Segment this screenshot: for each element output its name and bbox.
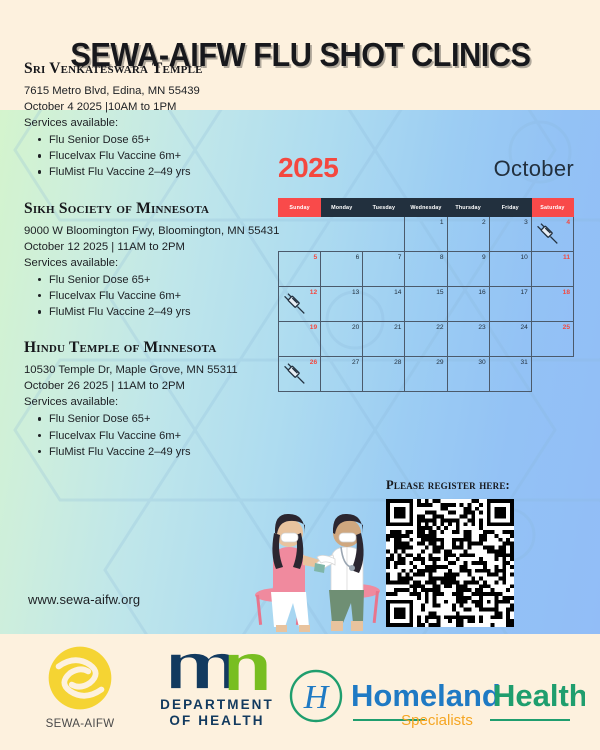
calendar-weekday-thursday: Thursday (447, 199, 489, 217)
calendar-day-number: 9 (482, 254, 486, 261)
calendar-grid: Sunday Monday Tuesday Wednesday Thursday… (278, 198, 574, 392)
vaccination-illustration-icon (243, 503, 389, 635)
calendar-day-cell[interactable]: 5 (279, 252, 321, 287)
flu-shot-clinic-flyer: SEWA-AIFW FLU SHOT CLINICS (0, 0, 600, 750)
list-item: Flu Senior Dose 65+ (38, 411, 282, 427)
list-item: Flucelvax Flu Vaccine 6m+ (38, 288, 282, 304)
calendar-week-row: 567891011 (279, 252, 574, 287)
list-item: Flucelvax Flu Vaccine 6m+ (38, 428, 282, 444)
calendar-day-number: 21 (394, 324, 401, 331)
calendar-day-number: 3 (524, 219, 528, 226)
clinic-services-label: Services available: (24, 115, 282, 131)
mdh-line-2: OF HEALTH (157, 713, 277, 729)
sewa-aifw-logo: SEWA-AIFW (36, 645, 124, 730)
calendar-weekday-sunday: Sunday (279, 199, 321, 217)
list-item: FluMist Flu Vaccine 2–49 yrs (38, 444, 282, 460)
calendar-day-cell[interactable]: 16 (447, 287, 489, 322)
register-section: Please register here: (386, 478, 556, 627)
calendar-day-cell[interactable]: 28 (363, 357, 405, 392)
calendar: 2025 October Sunday Monday Tuesday Wedne… (278, 152, 574, 392)
calendar-day-cell[interactable]: 13 (321, 287, 363, 322)
calendar-day-cell[interactable]: 21 (363, 322, 405, 357)
calendar-day-number: 24 (521, 324, 528, 331)
calendar-day-cell[interactable]: 22 (405, 322, 447, 357)
calendar-week-row: 12131415161718 (279, 287, 574, 322)
calendar-day-number: 13 (352, 289, 359, 296)
mn-department-of-health-logo: DEPARTMENT OF HEALTH (157, 652, 277, 728)
calendar-day-empty (279, 217, 321, 252)
calendar-header: 2025 October (278, 152, 574, 198)
sewa-swirl-icon (47, 645, 113, 711)
calendar-month: October (494, 156, 574, 182)
calendar-day-number: 10 (521, 254, 528, 261)
qr-code-icon[interactable] (386, 499, 514, 627)
homeland-h-monogram-icon: H (303, 679, 331, 716)
list-item: Flucelvax Flu Vaccine 6m+ (38, 148, 282, 164)
calendar-day-cell[interactable]: 4 (531, 217, 573, 252)
calendar-day-number: 5 (313, 254, 317, 261)
calendar-day-number: 12 (310, 289, 317, 296)
calendar-day-number: 31 (521, 359, 528, 366)
calendar-day-empty (363, 217, 405, 252)
list-item: Flu Senior Dose 65+ (38, 132, 282, 148)
calendar-day-cell[interactable]: 8 (405, 252, 447, 287)
calendar-day-cell[interactable]: 24 (489, 322, 531, 357)
calendar-weekday-header-row: Sunday Monday Tuesday Wednesday Thursday… (279, 199, 574, 217)
calendar-weekday-tuesday: Tuesday (363, 199, 405, 217)
clinic-name: Hindu Temple of Minnesota (24, 339, 282, 357)
calendar-day-cell[interactable]: 6 (321, 252, 363, 287)
calendar-day-cell[interactable]: 3 (489, 217, 531, 252)
calendar-body: 1234567891011121314151617181920212223242… (279, 217, 574, 392)
calendar-day-cell[interactable]: 19 (279, 322, 321, 357)
calendar-day-number: 16 (478, 289, 485, 296)
clinic-name: Sri Venkateswara Temple (24, 60, 282, 78)
calendar-weekday-monday: Monday (321, 199, 363, 217)
calendar-day-number: 26 (310, 359, 317, 366)
calendar-day-cell[interactable]: 12 (279, 287, 321, 322)
clinic-datetime: October 4 2025 |10AM to 1PM (24, 99, 282, 115)
calendar-day-cell[interactable]: 17 (489, 287, 531, 322)
calendar-day-number: 14 (394, 289, 401, 296)
register-label: Please register here: (386, 478, 556, 493)
clinic-address: 10530 Temple Dr, Maple Grove, MN 55311 (24, 362, 282, 378)
clinic-address: 7615 Metro Blvd, Edina, MN 55439 (24, 83, 282, 99)
sewa-aifw-logo-label: SEWA-AIFW (36, 718, 124, 730)
calendar-day-number: 20 (352, 324, 359, 331)
clinic-services-list: Flu Senior Dose 65+ Flucelvax Flu Vaccin… (38, 132, 282, 181)
calendar-day-cell[interactable]: 30 (447, 357, 489, 392)
clinic-list: Sri Venkateswara Temple 7615 Metro Blvd,… (24, 60, 282, 479)
calendar-day-cell[interactable]: 29 (405, 357, 447, 392)
calendar-day-number: 30 (478, 359, 485, 366)
calendar-day-cell[interactable]: 18 (531, 287, 573, 322)
clinic-name: Sikh Society of Minnesota (24, 200, 282, 218)
calendar-year: 2025 (278, 152, 338, 184)
calendar-day-cell[interactable]: 15 (405, 287, 447, 322)
calendar-day-cell[interactable]: 23 (447, 322, 489, 357)
calendar-day-number: 7 (398, 254, 402, 261)
calendar-day-empty (321, 217, 363, 252)
calendar-day-cell[interactable]: 31 (489, 357, 531, 392)
calendar-weekday-friday: Friday (489, 199, 531, 217)
mdh-line-1: DEPARTMENT (157, 697, 277, 713)
clinic-entry: Sri Venkateswara Temple 7615 Metro Blvd,… (24, 60, 282, 181)
calendar-day-cell[interactable]: 27 (321, 357, 363, 392)
list-item: FluMist Flu Vaccine 2–49 yrs (38, 164, 282, 180)
calendar-day-cell[interactable]: 26 (279, 357, 321, 392)
calendar-day-cell[interactable]: 14 (363, 287, 405, 322)
specialists-tagline: Specialists (401, 712, 473, 729)
calendar-day-number: 25 (563, 324, 570, 331)
calendar-day-number: 29 (436, 359, 443, 366)
calendar-day-number: 19 (310, 324, 317, 331)
calendar-day-number: 1 (440, 219, 444, 226)
clinic-services-list: Flu Senior Dose 65+ Flucelvax Flu Vaccin… (38, 411, 282, 460)
calendar-day-number: 8 (440, 254, 444, 261)
calendar-day-cell[interactable]: 11 (531, 252, 573, 287)
calendar-day-number: 22 (436, 324, 443, 331)
list-item: FluMist Flu Vaccine 2–49 yrs (38, 304, 282, 320)
calendar-weekday-saturday: Saturday (531, 199, 573, 217)
homeland-health-logo: H Homeland Health Specialists (285, 668, 585, 730)
clinic-entry: Hindu Temple of Minnesota 10530 Temple D… (24, 339, 282, 460)
clinic-services-list: Flu Senior Dose 65+ Flucelvax Flu Vaccin… (38, 272, 282, 321)
calendar-day-number: 27 (352, 359, 359, 366)
syringe-icon (281, 292, 307, 316)
clinic-datetime: October 26 2025 | 11AM to 2PM (24, 378, 282, 394)
calendar-week-row: 1234 (279, 217, 574, 252)
website-url[interactable]: www.sewa-aifw.org (28, 592, 140, 607)
mn-wordmark-icon (163, 652, 271, 692)
calendar-day-number: 2 (482, 219, 486, 226)
clinic-services-label: Services available: (24, 255, 282, 271)
syringe-icon (281, 362, 307, 386)
list-item: Flu Senior Dose 65+ (38, 272, 282, 288)
calendar-week-row: 262728293031 (279, 357, 574, 392)
calendar-day-cell[interactable]: 20 (321, 322, 363, 357)
clinic-services-label: Services available: (24, 394, 282, 410)
clinic-datetime: October 12 2025 | 11AM to 2PM (24, 239, 282, 255)
clinic-address: 9000 W Bloomington Fwy, Bloomington, MN … (24, 223, 282, 239)
calendar-day-cell[interactable]: 2 (447, 217, 489, 252)
calendar-day-cell[interactable]: 9 (447, 252, 489, 287)
calendar-day-number: 4 (566, 219, 570, 226)
syringe-icon (534, 222, 560, 246)
clinic-entry: Sikh Society of Minnesota 9000 W Bloomin… (24, 200, 282, 321)
calendar-day-cell[interactable]: 25 (531, 322, 573, 357)
calendar-day-number: 18 (563, 289, 570, 296)
calendar-day-number: 11 (563, 254, 570, 261)
calendar-day-number: 15 (436, 289, 443, 296)
calendar-week-row: 19202122232425 (279, 322, 574, 357)
calendar-day-cell[interactable]: 10 (489, 252, 531, 287)
calendar-day-cell[interactable]: 1 (405, 217, 447, 252)
calendar-day-number: 23 (478, 324, 485, 331)
calendar-day-number: 6 (356, 254, 360, 261)
calendar-day-number: 28 (394, 359, 401, 366)
calendar-day-empty (531, 357, 573, 392)
homeland-word: Homeland (351, 678, 501, 713)
calendar-weekday-wednesday: Wednesday (405, 199, 447, 217)
health-word: Health (493, 678, 585, 713)
calendar-day-number: 17 (521, 289, 528, 296)
calendar-day-cell[interactable]: 7 (363, 252, 405, 287)
